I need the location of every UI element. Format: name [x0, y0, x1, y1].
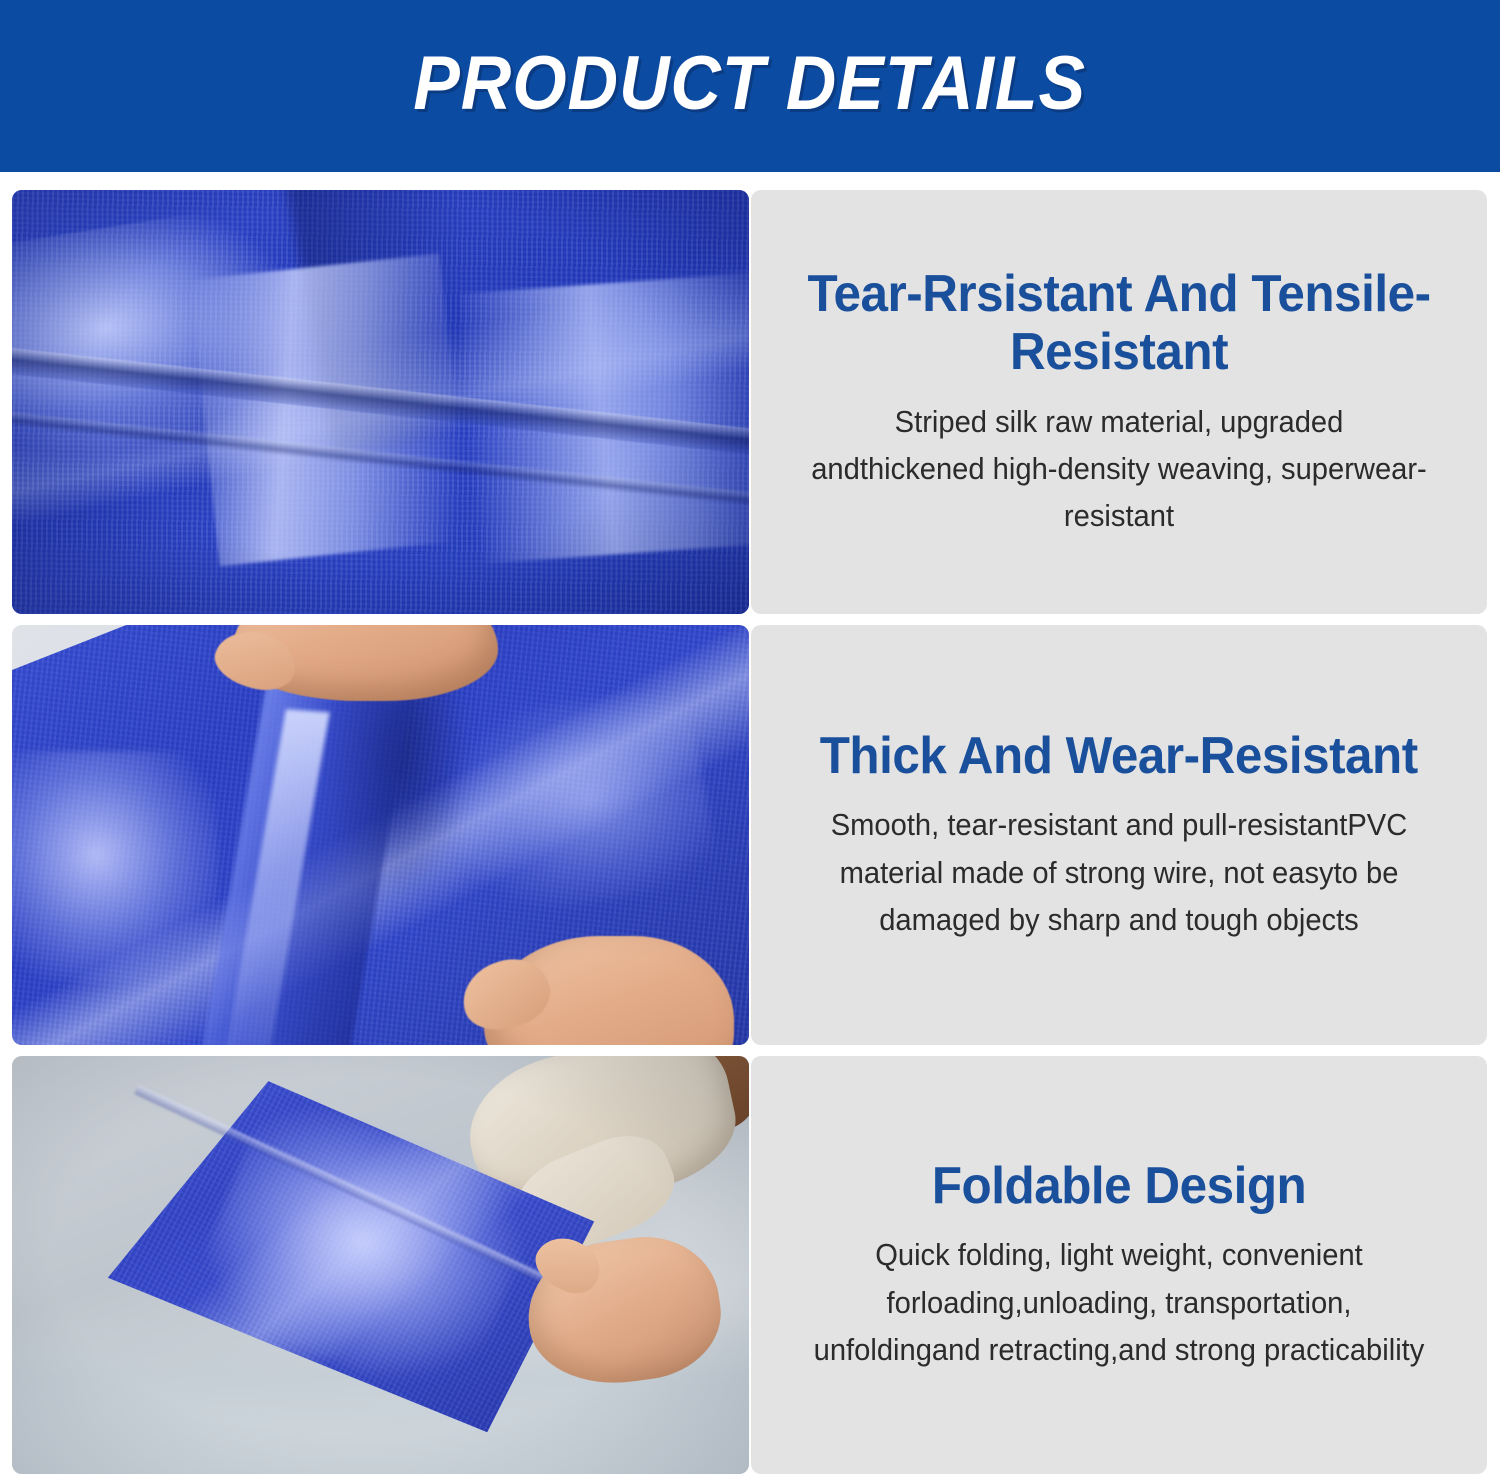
feature-title-2: Thick And Wear-Resistant — [820, 727, 1418, 785]
tarp-sheen-left — [12, 751, 218, 982]
feature-text-panel-1: Tear-Rrsistant And Tensile-Resistant Str… — [751, 190, 1487, 614]
feature-rows-container: Tear-Rrsistant And Tensile-Resistant Str… — [0, 172, 1500, 1474]
feature-title-1: Tear-Rrsistant And Tensile-Resistant — [790, 265, 1447, 381]
photo-vignette — [12, 1056, 749, 1474]
feature-description-3: Quick folding, light weight, convenient … — [809, 1231, 1429, 1372]
feature-row-1: Tear-Rrsistant And Tensile-Resistant Str… — [0, 190, 1500, 614]
feature-description-2: Smooth, tear-resistant and pull-resistan… — [809, 801, 1429, 942]
feature-text-panel-3: Foldable Design Quick folding, light wei… — [751, 1056, 1487, 1474]
page-title: PRODUCT DETAILS — [414, 46, 1087, 126]
row-spacer-1 — [0, 614, 1500, 625]
feature-text-panel-2: Thick And Wear-Resistant Smooth, tear-re… — [751, 625, 1487, 1045]
feature-description-1: Striped silk raw material, upgraded andt… — [809, 398, 1429, 539]
feature-image-tear-resistant — [12, 190, 749, 614]
tarp-sheen-right — [439, 680, 721, 922]
feature-row-2: Thick And Wear-Resistant Smooth, tear-re… — [0, 625, 1500, 1045]
page-header-banner: PRODUCT DETAILS — [0, 0, 1500, 172]
feature-image-wear-resistant — [12, 625, 749, 1045]
row-spacer-2 — [0, 1045, 1500, 1056]
feature-image-foldable-design — [12, 1056, 749, 1474]
feature-row-3: Foldable Design Quick folding, light wei… — [0, 1056, 1500, 1474]
feature-title-3: Foldable Design — [932, 1157, 1306, 1215]
top-spacer — [0, 172, 1500, 190]
photo-vignette — [12, 190, 749, 614]
